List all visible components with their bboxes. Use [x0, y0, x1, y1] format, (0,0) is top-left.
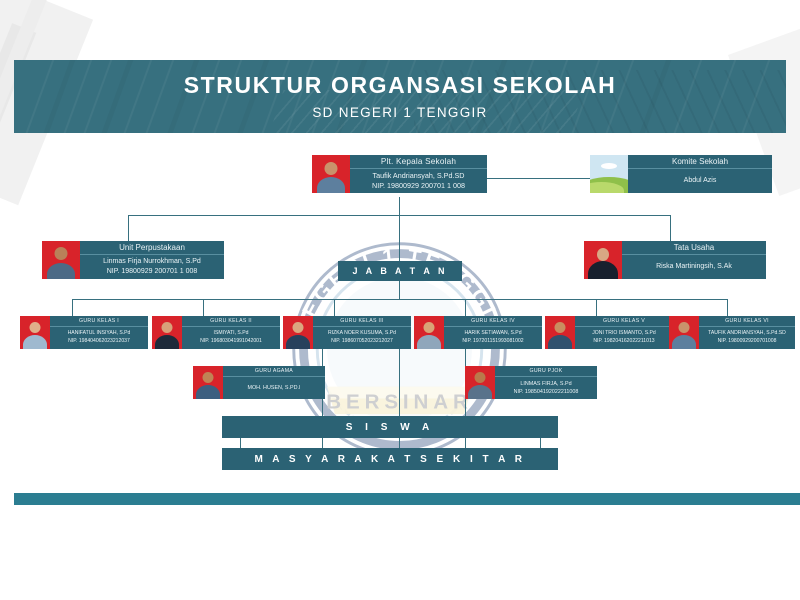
- photo-guru-kelas-2: [152, 316, 182, 349]
- photo-guru-agama: [193, 366, 223, 399]
- role-label: Unit Perpustakaan: [80, 241, 224, 255]
- role-label: GURU KELAS VI: [699, 316, 795, 327]
- photo-guru-kelas-3: [283, 316, 313, 349]
- node-guru-pjok[interactable]: GURU PJOK LINMAS FIRJA, S.Pd NIP. 198504…: [465, 366, 597, 399]
- person-nip: NIP. 198204162022211013: [593, 338, 654, 346]
- masyarakat-sekitar-bar: M A S Y A R A K A T S E K I T A R: [222, 448, 558, 470]
- photo-komite-sekolah: [590, 155, 628, 193]
- person-name: LINMAS FIRJA, S.Pd: [520, 380, 571, 388]
- person-name: Linmas Firja Nurrokhman, S.Pd: [103, 257, 201, 267]
- role-label: GURU KELAS II: [182, 316, 280, 327]
- person-name: RIZKA NOER KUSUMA, S.Pd: [328, 330, 396, 338]
- role-label: GURU AGAMA: [223, 366, 325, 377]
- page-title: STRUKTUR ORGANSASI SEKOLAH: [184, 73, 617, 98]
- node-unit-perpustakaan[interactable]: Unit Perpustakaan Linmas Firja Nurrokhma…: [42, 241, 224, 279]
- photo-guru-kelas-6: [669, 316, 699, 349]
- person-nip: NIP. 198404062023212037: [68, 338, 130, 346]
- person-nip: NIP. 19800929 200701 1 008: [107, 267, 198, 277]
- person-nip: NIP. 19800929 200701 1 008: [372, 181, 465, 191]
- person-name: MOH. HUSEN, S.PD.I: [247, 384, 300, 392]
- photo-tata-usaha: [584, 241, 622, 279]
- node-guru-kelas-1[interactable]: GURU KELAS I HANIFATUL INSIYAH, S.Pd NIP…: [20, 316, 148, 349]
- role-label: GURU KELAS III: [313, 316, 411, 327]
- node-guru-kelas-3[interactable]: GURU KELAS III RIZKA NOER KUSUMA, S.Pd N…: [283, 316, 411, 349]
- role-label: GURU KELAS I: [50, 316, 148, 327]
- node-guru-agama[interactable]: GURU AGAMA MOH. HUSEN, S.PD.I: [193, 366, 325, 399]
- siswa-bar: S I S W A: [222, 416, 558, 438]
- photo-unit-perpustakaan: [42, 241, 80, 279]
- person-nip: NIP. 198607052023212027: [331, 338, 393, 346]
- footer-bar: [14, 493, 800, 505]
- page-subtitle: SD NEGERI 1 TENGGIR: [312, 105, 487, 120]
- jabatan-bar: J A B A T A N: [338, 261, 462, 281]
- person-nip: NIP. 196803041991042001: [200, 338, 262, 346]
- person-name: Taufik Andriansyah, S.Pd.SD: [373, 171, 465, 181]
- org-chart-page: STRUKTUR ORGANSASI SEKOLAH SD NEGERI 1 T…: [0, 0, 800, 600]
- node-guru-kelas-6[interactable]: GURU KELAS VI TAUFIK ANDRIANSYAH, S.Pd.S…: [669, 316, 795, 349]
- watermark-banner-text: BERSINAR: [326, 390, 472, 413]
- node-guru-kelas-4[interactable]: GURU KELAS IV HARIK SETIAWAN, S.Pd NIP. …: [414, 316, 542, 349]
- person-name: TAUFIK ANDRIANSYAH, S.Pd.SD: [708, 330, 786, 338]
- node-tata-usaha[interactable]: Tata Usaha Riska Martiningsih, S.Ak: [584, 241, 766, 279]
- photo-guru-pjok: [465, 366, 495, 399]
- photo-guru-kelas-4: [414, 316, 444, 349]
- role-label: GURU KELAS V: [575, 316, 673, 327]
- person-nip: NIP. 198504192022211008: [514, 388, 579, 396]
- role-label: GURU PJOK: [495, 366, 597, 377]
- role-label: Plt. Kepala Sekolah: [350, 155, 487, 169]
- photo-guru-kelas-5: [545, 316, 575, 349]
- person-nip: NIP. 19800929200701008: [718, 338, 777, 346]
- role-label: GURU KELAS IV: [444, 316, 542, 327]
- photo-guru-kelas-1: [20, 316, 50, 349]
- person-nip: NIP. 197201151993081002: [462, 338, 523, 346]
- person-name: HANIFATUL INSIYAH, S.Pd: [68, 330, 131, 338]
- role-label: Tata Usaha: [622, 241, 766, 255]
- person-name: HARIK SETIAWAN, S.Pd: [464, 330, 521, 338]
- person-name: JONI TRIO ISMANTO, S.Pd: [592, 330, 656, 338]
- person-name: ISMIYATI, S.Pd: [214, 330, 249, 338]
- header-banner: STRUKTUR ORGANSASI SEKOLAH SD NEGERI 1 T…: [14, 60, 786, 133]
- node-guru-kelas-2[interactable]: GURU KELAS II ISMIYATI, S.Pd NIP. 196803…: [152, 316, 280, 349]
- role-label: Komite Sekolah: [628, 155, 772, 169]
- person-name: Riska Martiningsih, S.Ak: [656, 262, 732, 272]
- photo-kepala-sekolah: [312, 155, 350, 193]
- person-name: Abdul Azis: [684, 176, 717, 186]
- node-kepala-sekolah[interactable]: Plt. Kepala Sekolah Taufik Andriansyah, …: [312, 155, 487, 193]
- node-komite-sekolah[interactable]: Komite Sekolah Abdul Azis: [590, 155, 772, 193]
- node-guru-kelas-5[interactable]: GURU KELAS V JONI TRIO ISMANTO, S.Pd NIP…: [545, 316, 673, 349]
